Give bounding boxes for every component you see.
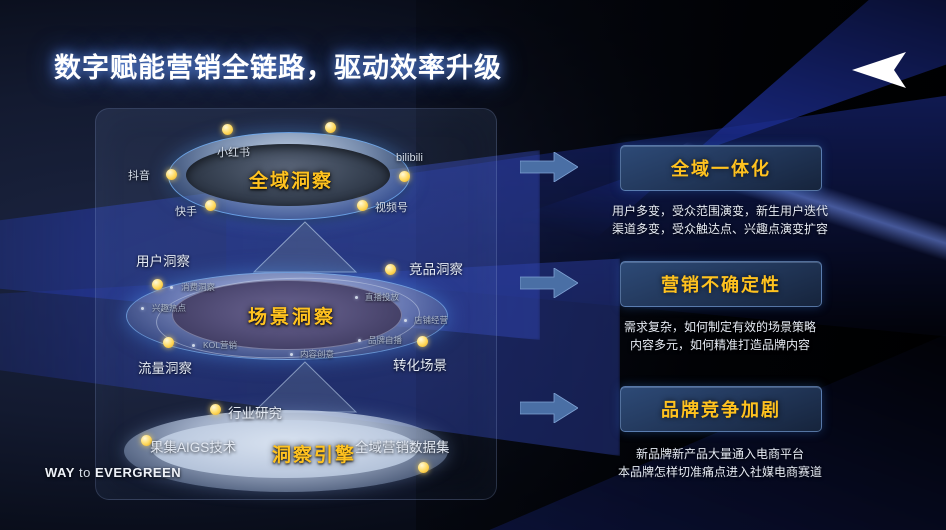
layer-bottom-core-label: 洞察引擎 (272, 440, 356, 467)
callout-box-1[interactable]: 全域一体化 (620, 145, 822, 191)
callout-desc-2-line1: 需求复杂，如何制定有效的场景策略 (570, 318, 870, 336)
layer-middle-label-traffic-insight: 流量洞察 (138, 357, 192, 377)
arrow-right-icon (520, 393, 578, 423)
layer-bottom-label-aigs-tech: 果集AIGS技术 (150, 436, 236, 456)
node-dot (210, 404, 221, 415)
node-dot (418, 462, 429, 473)
inner-node-dot (290, 353, 293, 356)
node-dot (385, 264, 396, 275)
layer-middle-inner-live-ads: 直播投放 (365, 291, 399, 303)
inner-node-dot (355, 296, 358, 299)
node-dot (357, 200, 368, 211)
inner-node-dot (170, 286, 173, 289)
callout-desc-3: 新品牌新产品大量通入电商平台 本品牌怎样切准痛点进入社媒电商赛道 (570, 445, 870, 481)
layer-top-label-shipinhao: 视频号 (375, 199, 408, 215)
layer-bottom-label-marketing-dataset: 全域营销数据集 (355, 436, 450, 456)
callout-desc-1: 用户多变，受众范围演变，新生用户迭代 渠道多变，受众触达点、兴趣点演变扩容 (570, 202, 870, 238)
layer-middle-inner-store-ops: 店铺经营 (414, 314, 448, 326)
callout-desc-2: 需求复杂，如何制定有效的场景策略 内容多元，如何精准打造品牌内容 (570, 318, 870, 354)
left-chevron-arrow-icon (846, 48, 908, 90)
layer-middle-inner-consumption: 消费洞察 (181, 281, 215, 293)
node-dot (152, 279, 163, 290)
watermark-way: WAY (45, 465, 75, 480)
layer-top-core-label: 全域洞察 (249, 166, 333, 193)
layer-top-label-xiaohongshu: 小红书 (217, 144, 250, 160)
page-title: 数字赋能营销全链路，驱动效率升级 (54, 46, 502, 85)
inner-node-dot (192, 344, 195, 347)
inner-node-dot (404, 319, 407, 322)
arrow-right-icon (520, 152, 578, 182)
layer-top-label-douyin: 抖音 (128, 167, 150, 183)
callout-desc-1-line1: 用户多变，受众范围演变，新生用户迭代 (570, 202, 870, 220)
node-dot (325, 122, 336, 133)
callout-box-2[interactable]: 营销不确定性 (620, 261, 822, 307)
callout-title-3: 品牌竞争加剧 (661, 396, 781, 422)
layer-middle-inner-brand-live: 品牌自播 (368, 334, 402, 346)
node-dot (399, 171, 410, 182)
callout-desc-2-line2: 内容多元，如何精准打造品牌内容 (570, 336, 870, 354)
layer-middle-label-conversion-scene: 转化场景 (393, 354, 447, 374)
callout-title-2: 营销不确定性 (661, 271, 781, 297)
layer-top-label-kuaishou: 快手 (175, 203, 197, 219)
callout-desc-3-line1: 新品牌新产品大量通入电商平台 (570, 445, 870, 463)
node-dot (166, 169, 177, 180)
watermark-to: to (79, 465, 91, 480)
layer-middle-core-label: 场景洞察 (248, 302, 336, 329)
callout-title-1: 全域一体化 (671, 155, 771, 181)
layer-middle-inner-interest: 兴趣热点 (152, 302, 186, 314)
watermark-evergreen: EVERGREEN (95, 465, 181, 480)
callout-box-3[interactable]: 品牌竞争加剧 (620, 386, 822, 432)
layer-top-label-bilibili: bilibili (396, 152, 423, 164)
node-dot (163, 337, 174, 348)
callout-desc-1-line2: 渠道多变，受众触达点、兴趣点演变扩容 (570, 220, 870, 238)
arrow-right-icon (520, 268, 578, 298)
connector-triangle-upper (250, 218, 360, 276)
inner-node-dot (358, 339, 361, 342)
node-dot (417, 336, 428, 347)
layer-bottom-label-industry-research: 行业研究 (228, 402, 282, 422)
node-dot (222, 124, 233, 135)
watermark: WAY to EVERGREEN (45, 465, 181, 480)
inner-node-dot (141, 307, 144, 310)
slide-canvas: 数字赋能营销全链路，驱动效率升级 全域洞察 小红书 抖音 快手 bilibili… (0, 0, 946, 530)
callout-desc-3-line2: 本品牌怎样切准痛点进入社媒电商赛道 (570, 463, 870, 481)
node-dot (205, 200, 216, 211)
layer-middle-inner-kol: KOL营销 (203, 339, 237, 351)
layer-middle-label-user-insight: 用户洞察 (136, 250, 190, 270)
layer-middle-label-competitor-insight: 竞品洞察 (409, 258, 463, 278)
